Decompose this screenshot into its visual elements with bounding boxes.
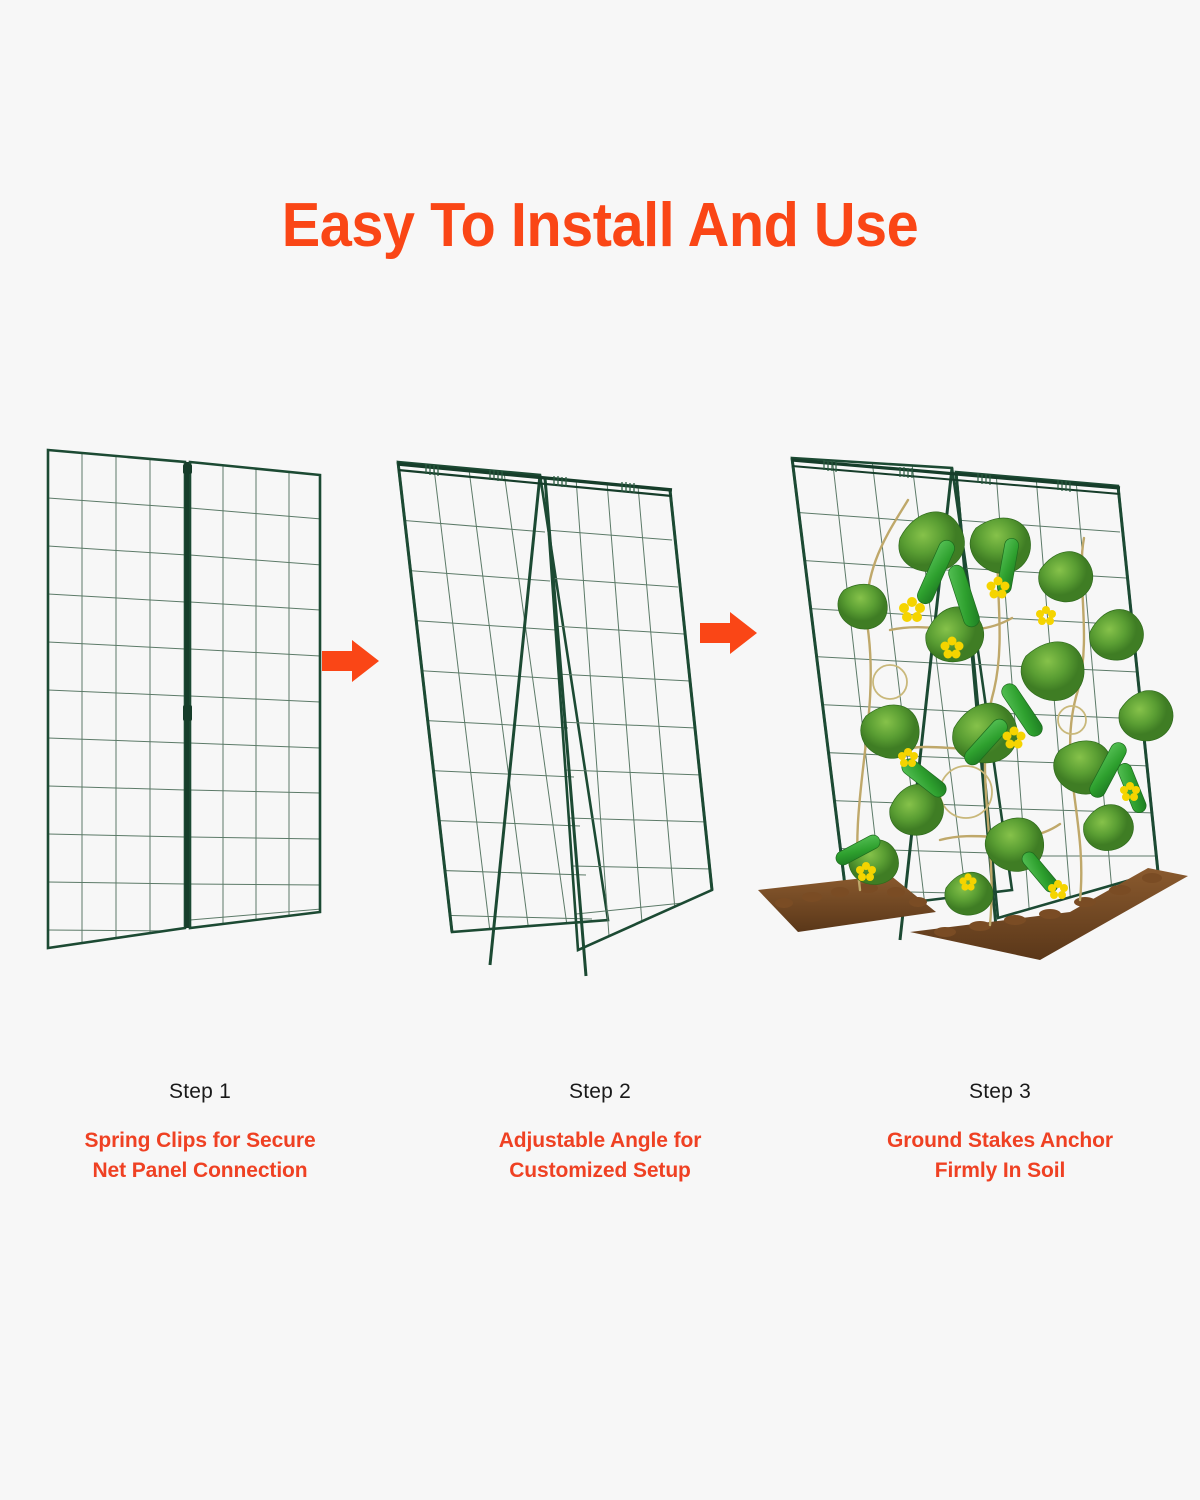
spring-clip-group xyxy=(398,464,672,496)
step-1-description-line1: Spring Clips for Secure xyxy=(0,1126,400,1156)
step-3-description-line1: Ground Stakes Anchor xyxy=(800,1126,1200,1156)
step-1-description-line2: Net Panel Connection xyxy=(0,1156,400,1186)
step1-illustration xyxy=(20,420,350,1020)
step-2-description-line2: Customized Setup xyxy=(400,1156,800,1186)
step-3-label: Step 3 xyxy=(800,1080,1200,1104)
step-2-caption: Step 2 Adjustable Angle for Customized S… xyxy=(400,1080,800,1186)
step-3-caption: Step 3 Ground Stakes Anchor Firmly In So… xyxy=(800,1080,1200,1186)
step-3-description-line2: Firmly In Soil xyxy=(800,1156,1200,1186)
step3-illustration xyxy=(740,420,1190,1020)
step-1-description: Spring Clips for Secure Net Panel Connec… xyxy=(0,1126,400,1186)
infographic-page: Easy To Install And Use xyxy=(0,0,1200,1500)
step-2-description-line1: Adjustable Angle for xyxy=(400,1126,800,1156)
step-2-description: Adjustable Angle for Customized Setup xyxy=(400,1126,800,1186)
soil-bed-back xyxy=(758,875,936,932)
step-1-label: Step 1 xyxy=(0,1080,400,1104)
illustration-stage xyxy=(0,420,1200,1020)
step-3-description: Ground Stakes Anchor Firmly In Soil xyxy=(800,1126,1200,1186)
step2-illustration xyxy=(340,420,720,1020)
page-title: Easy To Install And Use xyxy=(42,190,1158,261)
step-captions: Step 1 Spring Clips for Secure Net Panel… xyxy=(0,1080,1200,1186)
step-2-label: Step 2 xyxy=(400,1080,800,1104)
step-1-caption: Step 1 Spring Clips for Secure Net Panel… xyxy=(0,1080,400,1186)
